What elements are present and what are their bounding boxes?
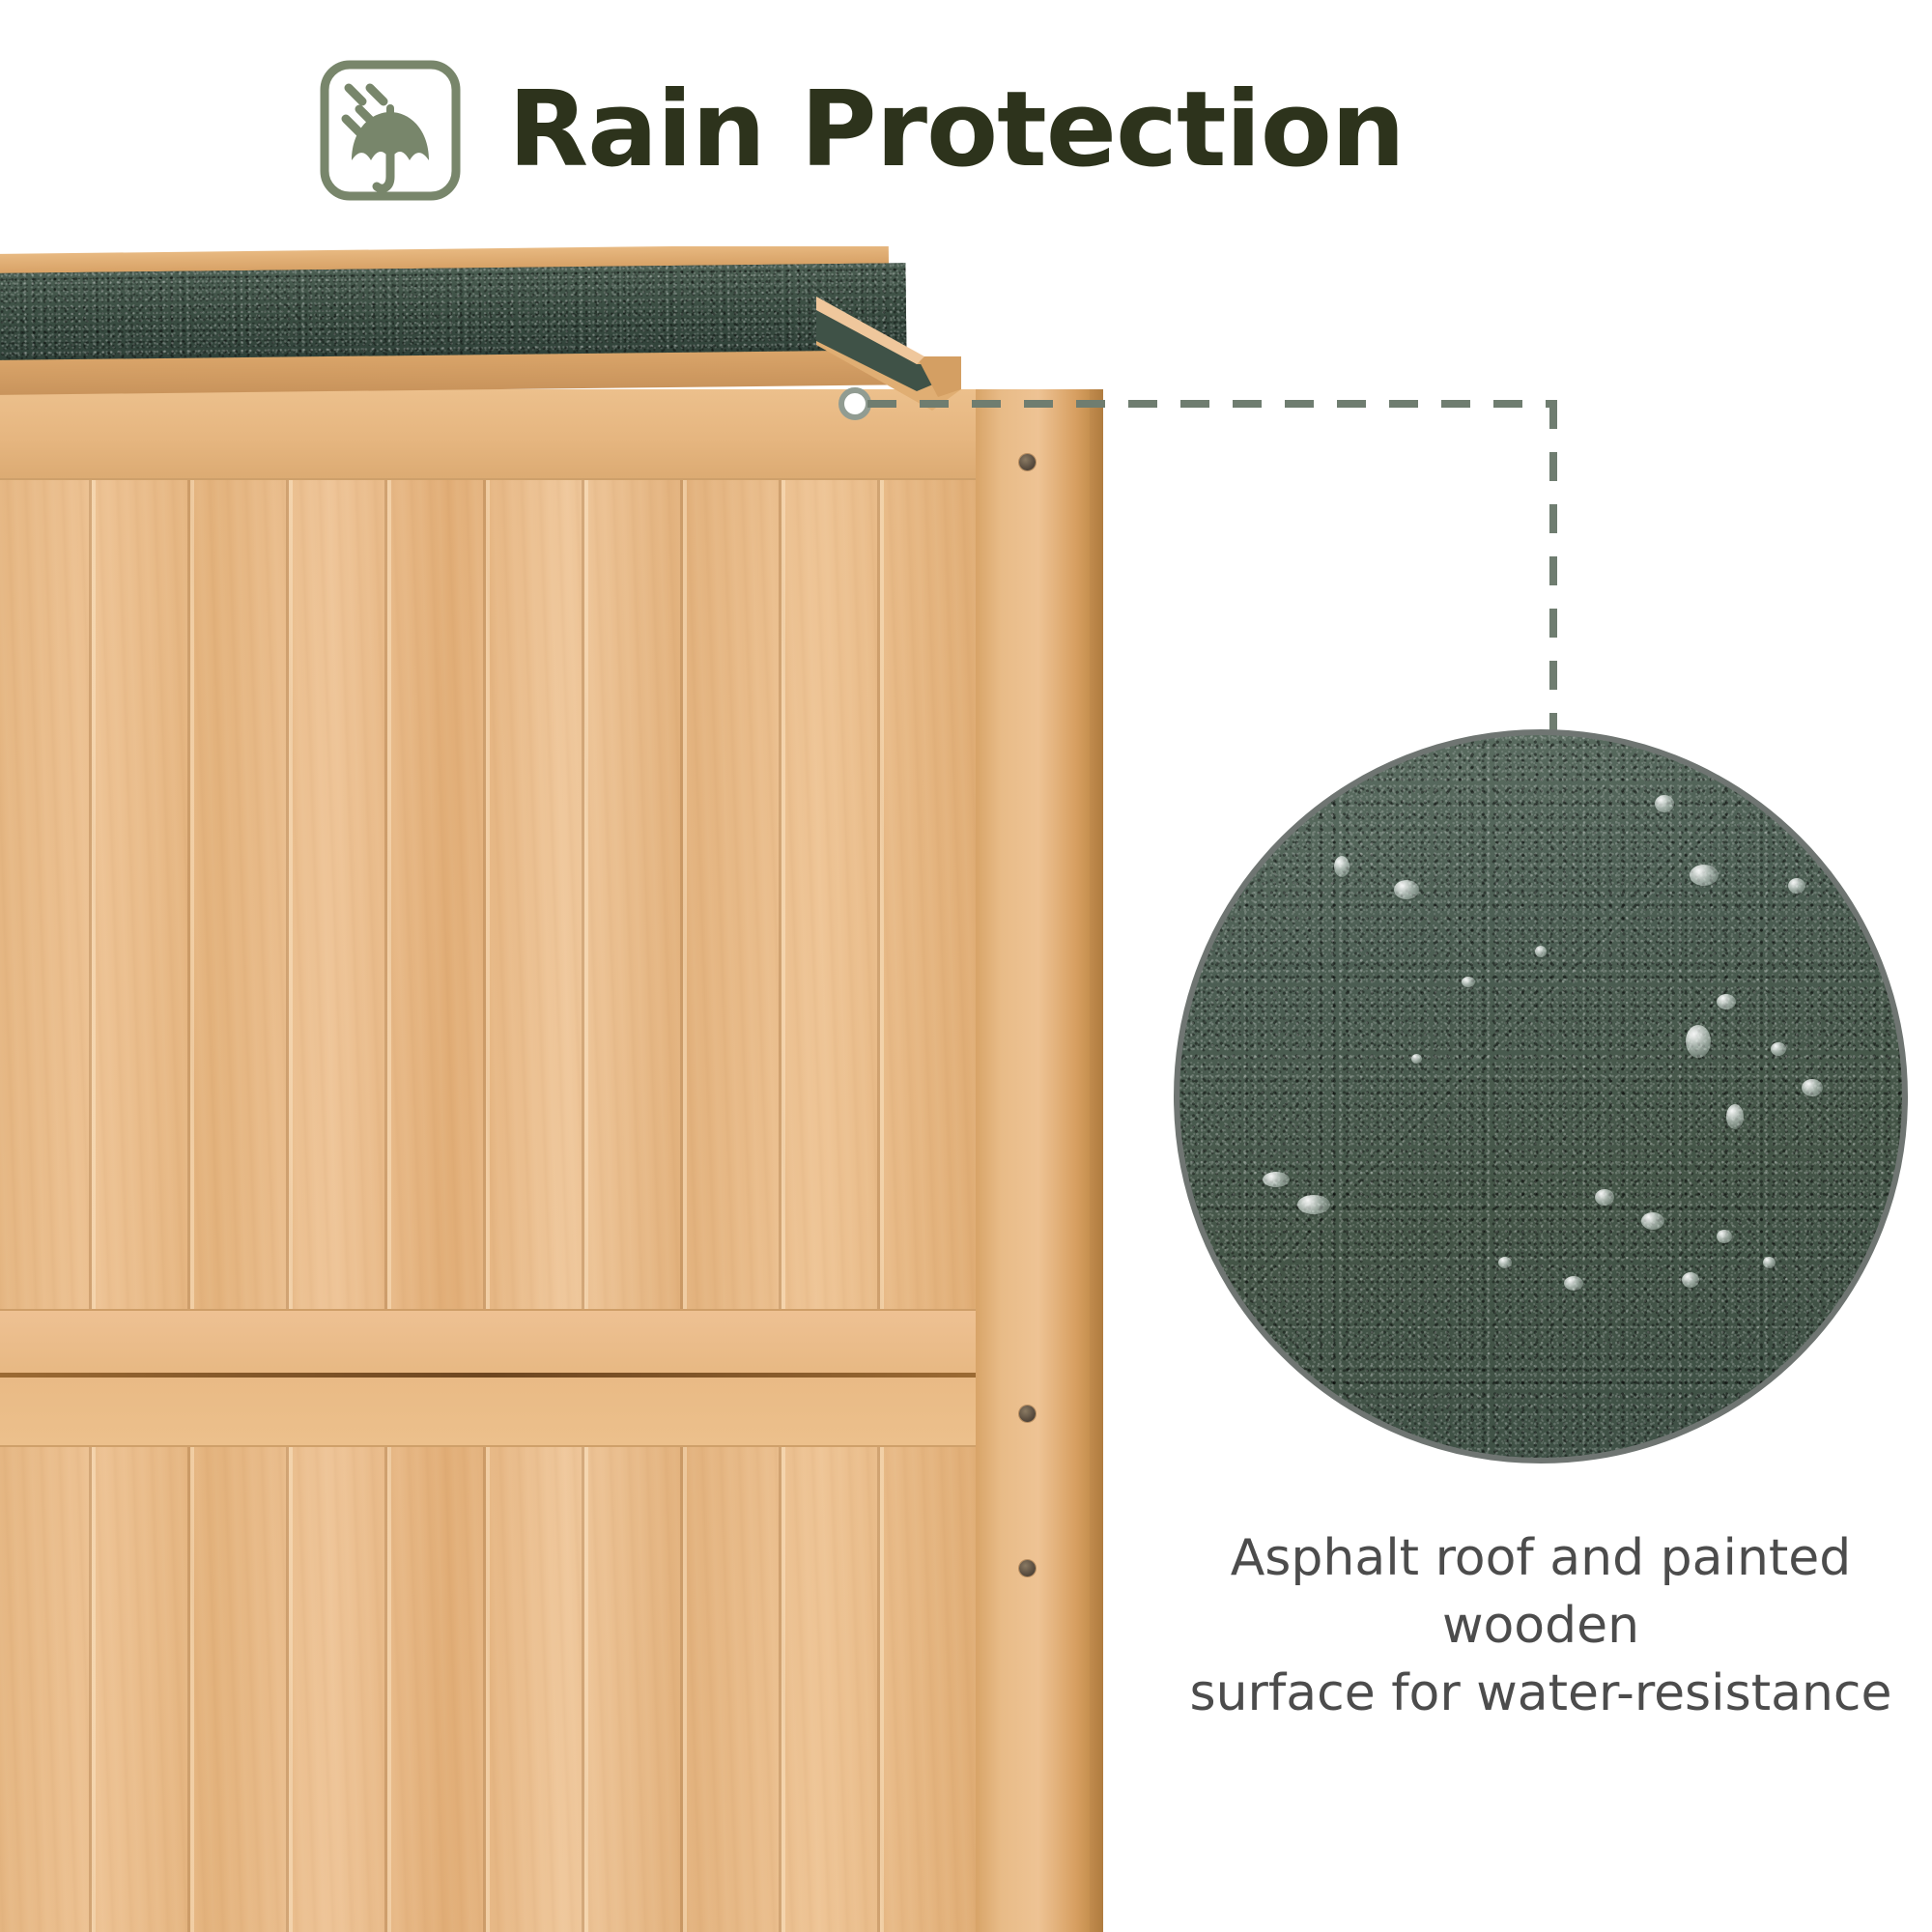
water-droplet bbox=[1535, 946, 1547, 957]
water-droplet bbox=[1771, 1042, 1786, 1056]
shed-wall-panels bbox=[0, 389, 976, 1932]
callout-line-horizontal bbox=[867, 400, 1557, 408]
detail-caption: Asphalt roof and painted wooden surface … bbox=[1154, 1524, 1927, 1728]
water-droplet bbox=[1334, 856, 1350, 877]
water-droplet bbox=[1263, 1172, 1290, 1187]
shed-right-edge bbox=[1090, 389, 1103, 1932]
product-photo bbox=[0, 246, 1135, 1932]
screw-head bbox=[1019, 1406, 1036, 1422]
water-droplet bbox=[1802, 1079, 1823, 1096]
water-droplet bbox=[1655, 795, 1674, 812]
caption-line-2: surface for water-resistance bbox=[1154, 1660, 1927, 1727]
roof-callout-dot bbox=[838, 387, 871, 420]
page-title: Rain Protection bbox=[508, 78, 1405, 183]
umbrella-rain-icon bbox=[319, 59, 462, 202]
water-droplet bbox=[1641, 1212, 1664, 1230]
wood-grain-texture bbox=[0, 389, 976, 1932]
water-droplet bbox=[1717, 1230, 1732, 1243]
water-droplet bbox=[1595, 1189, 1614, 1206]
water-droplet bbox=[1682, 1272, 1699, 1288]
feature-header: Rain Protection bbox=[319, 43, 1671, 217]
shed-mid-rail-lower bbox=[0, 1378, 976, 1447]
water-droplet bbox=[1411, 1054, 1422, 1064]
water-droplet bbox=[1564, 1276, 1583, 1291]
asphalt-roof-closeup bbox=[1174, 729, 1908, 1463]
callout-line-vertical bbox=[1549, 400, 1557, 740]
infographic-canvas: Rain Protection bbox=[0, 0, 1932, 1932]
water-droplet bbox=[1394, 880, 1419, 899]
water-droplet bbox=[1686, 1025, 1711, 1058]
shed-roof bbox=[0, 246, 1135, 464]
shed-mid-rail-upper bbox=[0, 1309, 976, 1377]
water-droplet bbox=[1498, 1257, 1512, 1268]
water-droplet bbox=[1788, 878, 1805, 894]
water-droplet bbox=[1690, 865, 1719, 886]
water-droplet bbox=[1297, 1195, 1330, 1214]
water-droplet bbox=[1726, 1104, 1744, 1129]
shed-corner-post bbox=[976, 389, 1090, 1932]
water-droplet bbox=[1763, 1257, 1776, 1268]
screw-head bbox=[1019, 1560, 1036, 1577]
water-droplet bbox=[1462, 977, 1475, 987]
caption-line-1: Asphalt roof and painted wooden bbox=[1154, 1524, 1927, 1660]
water-droplet bbox=[1717, 994, 1736, 1009]
